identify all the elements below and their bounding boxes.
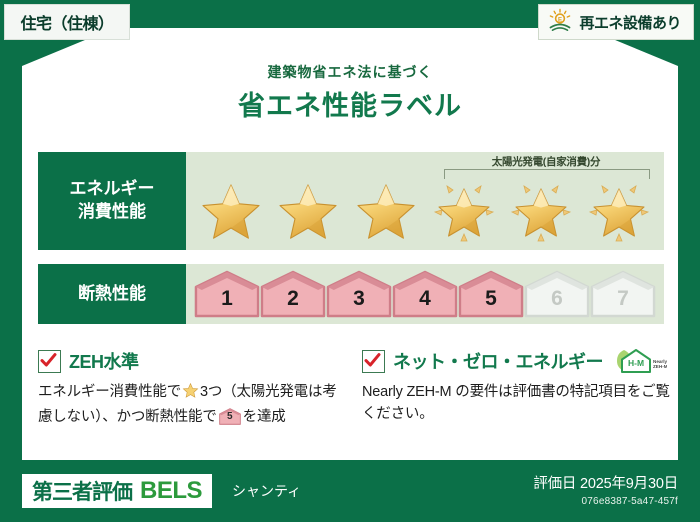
svg-text:ZEH-M: ZEH-M <box>653 364 667 369</box>
net-zero-energy-block: ネット・ゼロ・エネルギー H-M Nearly ZEH-M Nearly ZEH… <box>362 348 674 426</box>
label-title: 省エネ性能ラベル <box>0 84 700 123</box>
grade-badge-4: 4 <box>392 270 458 318</box>
grade-badge-value: 5 <box>485 288 497 318</box>
inline-grade-badge: 5 <box>219 408 241 425</box>
grade-badge-5: 5 <box>458 270 524 318</box>
renewable-badge-label: 再エネ設備あり <box>579 12 681 33</box>
grade-badge-1: 1 <box>194 270 260 318</box>
net-zero-energy-header: ネット・ゼロ・エネルギー H-M Nearly ZEH-M <box>362 348 674 374</box>
zeh-desc-part-a: エネルギー消費性能で <box>38 384 181 400</box>
solar-generation-caption: 太陽光発電(自家消費)分 <box>436 154 656 169</box>
energy-row-label: エネルギー 消費性能 <box>38 152 186 250</box>
zeh-standard-description: エネルギー消費性能で3つ（太陽光発電は考慮しない）、かつ断熱性能で5を達成 <box>38 381 338 429</box>
label-subtitle: 建築物省エネ法に基づく <box>0 62 700 82</box>
energy-row-label-line1: エネルギー <box>70 178 155 201</box>
energy-performance-row: エネルギー 消費性能 太陽光発電(自家消費)分 <box>38 152 664 250</box>
insulation-performance-row: 断熱性能 1 2 3 4 <box>38 264 664 324</box>
grade-badge-3: 3 <box>326 270 392 318</box>
inline-star-icon <box>182 382 199 406</box>
grade-badge-7: 7 <box>590 270 656 318</box>
grade-badge-6: 6 <box>524 270 590 318</box>
grade-badge-value: 6 <box>551 288 563 318</box>
energy-star-panel: 太陽光発電(自家消費)分 <box>186 152 664 250</box>
grade-badge-2: 2 <box>260 270 326 318</box>
inline-grade-value: 5 <box>219 409 241 425</box>
star-icon-sparkle <box>508 179 574 245</box>
grade-badge-value: 3 <box>353 288 365 318</box>
sun-renewable-icon: E <box>547 8 573 37</box>
star-icon <box>275 179 341 245</box>
star-rating-group <box>186 178 664 246</box>
evaluation-id: 076e8387-5a47-457f <box>533 496 678 507</box>
grade-badge-value: 1 <box>221 288 233 318</box>
evaluation-date: 評価日 2025年9月30日 <box>533 472 678 493</box>
renewable-equipment-badge: E 再エネ設備あり <box>538 4 694 40</box>
svg-text:H-M: H-M <box>628 358 644 368</box>
housing-type-label: 住宅（住棟） <box>20 10 113 34</box>
insulation-row-label-text: 断熱性能 <box>78 283 146 306</box>
star-icon-sparkle <box>431 179 497 245</box>
zeh-standard-header: ZEH水準 <box>38 348 338 374</box>
housing-type-tag: 住宅（住棟） <box>4 4 130 40</box>
building-owner-name: シャンティ <box>232 474 301 508</box>
svg-text:E: E <box>558 17 562 23</box>
label-footer: 第三者評価 BELS シャンティ 評価日 2025年9月30日 076e8387… <box>0 464 700 522</box>
checkbox-checked-icon <box>38 350 61 373</box>
zeh-desc-part-c: を達成 <box>243 409 286 425</box>
insulation-grade-group: 1 2 3 4 5 <box>186 264 664 324</box>
energy-row-label-line2: 消費性能 <box>78 201 146 224</box>
bels-certification-box: 第三者評価 BELS <box>22 474 212 508</box>
net-zero-energy-description: Nearly ZEH-M の要件は評価書の特記項目をご覧ください。 <box>362 381 674 426</box>
net-zero-energy-title: ネット・ゼロ・エネルギー <box>393 348 603 374</box>
bels-en-label: BELS <box>140 477 202 505</box>
grade-badge-value: 4 <box>419 288 431 318</box>
grade-badge-value: 2 <box>287 288 299 318</box>
zeh-m-logo-icon: H-M Nearly ZEH-M <box>613 346 667 376</box>
zeh-standard-block: ZEH水準 エネルギー消費性能で3つ（太陽光発電は考慮しない）、かつ断熱性能で5… <box>38 348 338 429</box>
evaluation-info: 評価日 2025年9月30日 076e8387-5a47-457f <box>533 472 678 507</box>
insulation-row-label: 断熱性能 <box>38 264 186 324</box>
energy-performance-label: 住宅（住棟） E 再エネ設備あり 建築物省エネ法に基づく 省エネ性能ラベル <box>0 0 700 522</box>
zeh-standard-title: ZEH水準 <box>69 348 139 374</box>
bels-jp-label: 第三者評価 <box>32 476 132 506</box>
grade-badge-value: 7 <box>617 288 629 318</box>
checkbox-checked-icon <box>362 350 385 373</box>
star-icon <box>353 179 419 245</box>
star-icon <box>198 179 264 245</box>
star-icon-sparkle <box>586 179 652 245</box>
insulation-grade-panel: 1 2 3 4 5 <box>186 264 664 324</box>
